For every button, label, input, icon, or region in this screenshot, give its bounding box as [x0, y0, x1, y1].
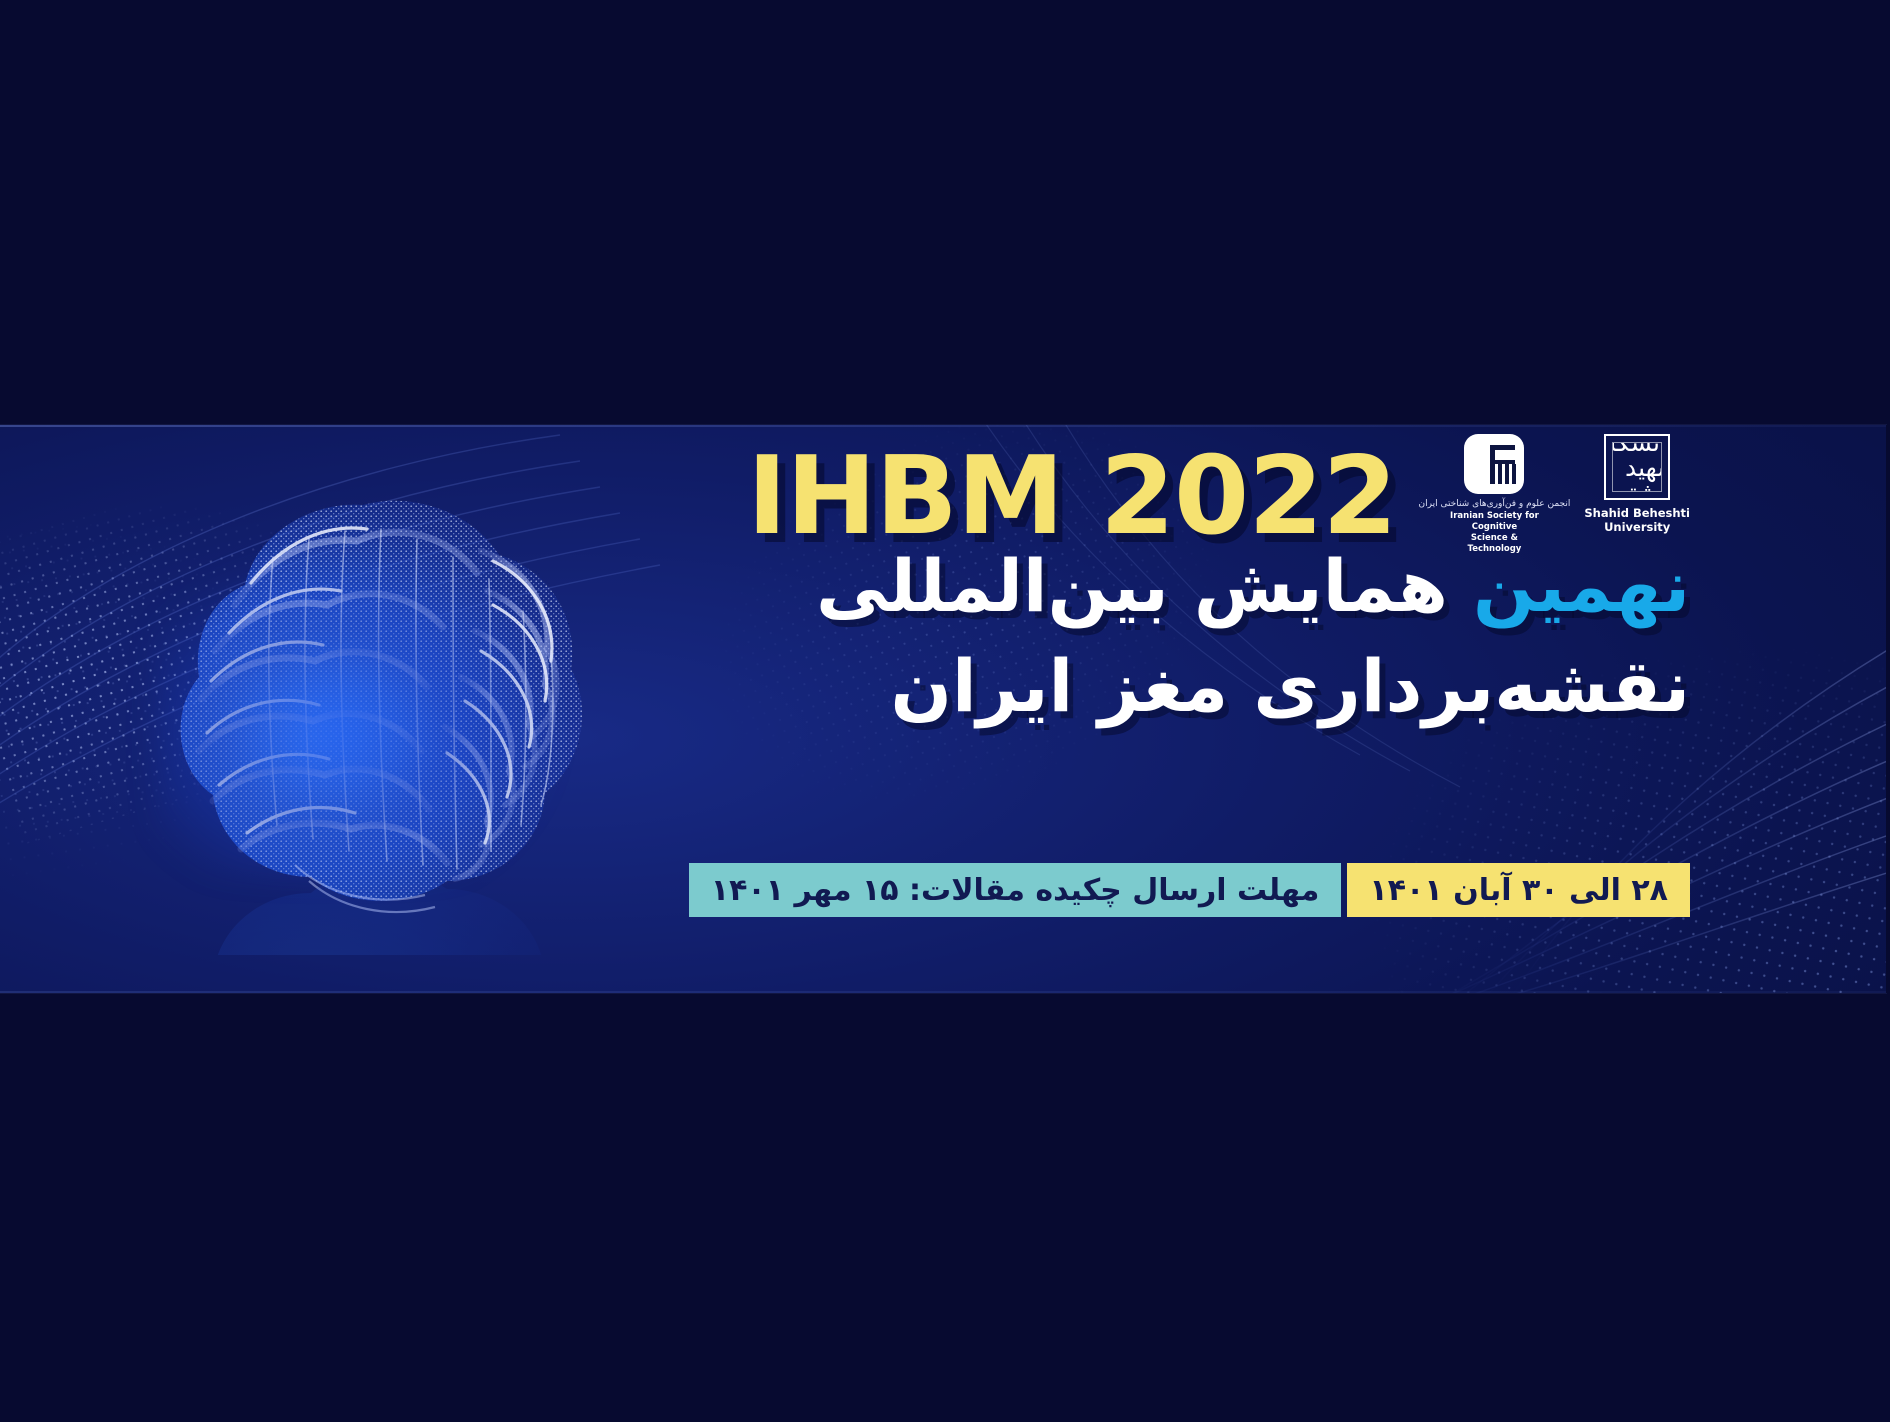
banner-right-edge: [1886, 425, 1890, 993]
title-and-logos-row: IHBM 2022 انجمن علوم و فن‌آوری‌های شناخت…: [747, 425, 1690, 539]
abstract-deadline-badge: مهلت ارسال چکیده مقالات: ۱۵ مهر ۱۴۰۱: [689, 863, 1342, 917]
headline-line-1: نهمین همایش بین‌المللی: [816, 550, 1690, 622]
logo-group: انجمن علوم و فن‌آوری‌های شناختی ایران Ir…: [1419, 434, 1691, 555]
badge-row: ۲۸ الی ۳۰ آبان ۱۴۰۱ مهلت ارسال چکیده مقا…: [689, 863, 1690, 917]
sbu-english-line-2: University: [1584, 520, 1690, 534]
page-title: IHBM 2022: [747, 443, 1397, 551]
iscs-monogram-icon: [1464, 434, 1524, 494]
headline-line-2: نقشه‌برداری مغز ایران: [891, 650, 1690, 722]
headline-ordinal: نهمین: [1473, 544, 1690, 628]
banner-content: IHBM 2022 انجمن علوم و فن‌آوری‌های شناخت…: [0, 425, 1886, 993]
shahid-beheshti-logo: دانشگاه شهید بهشتی Shahid Beheshti Unive…: [1584, 434, 1690, 535]
conference-banner: IHBM 2022 انجمن علوم و فن‌آوری‌های شناخت…: [0, 425, 1886, 993]
sbu-english-line-1: Shahid Beheshti: [1584, 506, 1690, 520]
iscs-logo: انجمن علوم و فن‌آوری‌های شناختی ایران Ir…: [1419, 434, 1571, 555]
shahid-beheshti-seal-icon: دانشگاه شهید بهشتی: [1604, 434, 1670, 500]
event-date-badge: ۲۸ الی ۳۰ آبان ۱۴۰۱: [1347, 863, 1690, 917]
iscs-english-line-1: Iranian Society for Cognitive: [1448, 511, 1540, 533]
sbu-seal-glyph: دانشگاه شهید بهشتی: [1612, 442, 1662, 492]
iscs-persian-name: انجمن علوم و فن‌آوری‌های شناختی ایران: [1419, 499, 1571, 509]
headline-line-1-rest: همایش بین‌المللی: [816, 544, 1448, 628]
